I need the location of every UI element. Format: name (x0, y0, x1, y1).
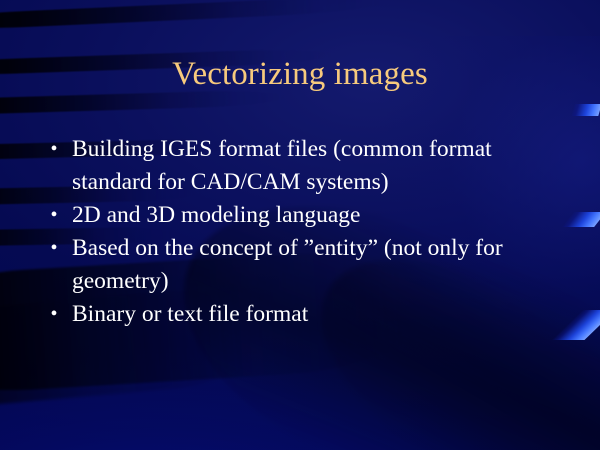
bullet-marker-icon: • (46, 298, 62, 331)
list-item-text: Binary or text file format (72, 298, 570, 331)
slide-title: Vectorizing images (0, 57, 600, 93)
list-item: • Building IGES format files (common for… (40, 133, 570, 199)
list-item-text: 2D and 3D modeling language (72, 199, 570, 232)
bullet-marker-icon: • (46, 199, 62, 232)
presentation-slide: Vectorizing images • Building IGES forma… (0, 0, 600, 450)
list-item: • 2D and 3D modeling language (40, 199, 570, 232)
bullet-list: • Building IGES format files (common for… (40, 133, 570, 331)
list-item: • Binary or text file format (40, 298, 570, 331)
slide-content: Vectorizing images • Building IGES forma… (0, 0, 600, 450)
list-item: • Based on the concept of ”entity” (not … (40, 232, 570, 298)
bullet-marker-icon: • (46, 133, 62, 166)
bullet-marker-icon: • (46, 232, 62, 265)
list-item-text: Building IGES format files (common forma… (72, 133, 570, 199)
list-item-text: Based on the concept of ”entity” (not on… (72, 232, 570, 298)
